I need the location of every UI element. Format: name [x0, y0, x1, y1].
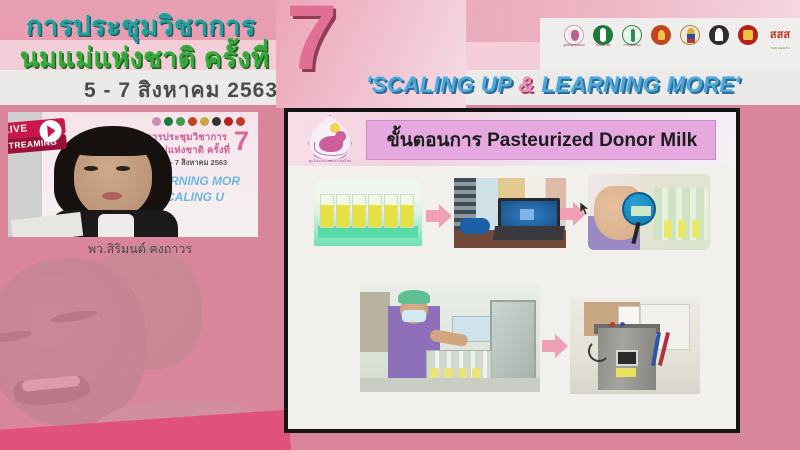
baby-figure: [319, 136, 343, 152]
process-arrow-1: [426, 204, 452, 228]
conference-tagline: 'SCALING UP & LEARNING MORE': [366, 72, 740, 98]
photo-digital-thermometer: [588, 174, 710, 250]
poster-edition-number: 7: [234, 128, 249, 155]
medical-council-logo: [736, 25, 760, 51]
logo-ring-text: ศูนย์นมแม่แห่งประเทศไทย HUMAN MILK BANK: [304, 155, 356, 167]
logo-caption: กรมอนามัย: [591, 43, 615, 48]
photo-pasteurizer-machine: [570, 298, 700, 394]
tagline-ampersand: &: [518, 72, 534, 97]
royal-patronage-logo: มูลนิธิศูนย์นมแม่: [562, 25, 586, 51]
ministry-health-logo: กรมอนามัย: [591, 25, 615, 51]
slide-title: ขั้นตอนการ Pasteurized Donor Milk: [367, 121, 717, 161]
logo-caption: มูลนิธิศูนย์นมแม่: [562, 43, 586, 48]
presenter-bangs: [70, 134, 156, 156]
presentation-slide: ศูนย์นมแม่แห่งประเทศไทย HUMAN MILK BANK …: [284, 108, 740, 433]
conference-title-line2: นมแม่แห่งชาติ ครั้งที่: [20, 36, 269, 79]
presenter-blouse: [98, 214, 134, 237]
slide-screenshot: การประชุมวิชาการ นมแม่แห่งชาติ ครั้งที่ …: [0, 0, 800, 450]
organization-logos: มูลนิธิศูนย์นมแม่ กรมอนามัย กรมสนับสนุนบ…: [562, 25, 795, 51]
thai-human-milk-bank-logo: ศูนย์นมแม่แห่งประเทศไทย HUMAN MILK BANK: [300, 114, 362, 166]
poster-logo-row: [152, 117, 245, 126]
presenter-mouth: [102, 192, 122, 200]
conference-edition-number: 7: [286, 0, 337, 84]
live-streaming-badge: LIVE STREAMING: [8, 118, 67, 156]
royal-college-logo: [678, 25, 702, 51]
conference-date: 5 - 7 สิงหาคม 2563: [84, 74, 278, 107]
photo-milk-bottle-rack: [314, 180, 422, 246]
presenter-name: พว.สิริมนต์ คงถาวร: [40, 239, 240, 259]
thaihealth-label: สสส: [765, 27, 795, 43]
poster-date: 5 - 7 สิงหาคม 2563: [164, 157, 227, 169]
nursing-council-logo: [707, 25, 731, 51]
presenter-video-thumbnail[interactable]: การประชุมวิชาการ นมแม่แห่งชาติ ครั้งที่ …: [8, 112, 258, 237]
process-arrow-3: [542, 334, 568, 358]
thaihealth-logo: สสส THAI HEALTH: [765, 25, 795, 51]
presenter-eye-left: [84, 166, 98, 171]
thai-pediatric-logo: [649, 25, 673, 51]
tagline-prefix: 'SCALING UP: [366, 72, 518, 97]
slide-title-banner: ขั้นตอนการ Pasteurized Donor Milk: [366, 120, 716, 160]
photo-laptop-workstation: [454, 178, 566, 248]
photo-nurse-loading-bottles: [360, 284, 540, 392]
presenter-papers: [11, 212, 83, 237]
mouse-cursor: [580, 202, 590, 216]
thaihealth-sublabel: THAI HEALTH: [765, 46, 795, 50]
slide-header: ศูนย์นมแม่แห่งประเทศไทย HUMAN MILK BANK …: [288, 112, 736, 166]
presenter-eye-right: [116, 166, 130, 171]
logo-caption: กรมสนับสนุนบริการสุขภาพ: [620, 43, 644, 48]
tagline-suffix: LEARNING MORE': [535, 72, 741, 97]
health-department-logo: กรมสนับสนุนบริการสุขภาพ: [620, 25, 644, 51]
